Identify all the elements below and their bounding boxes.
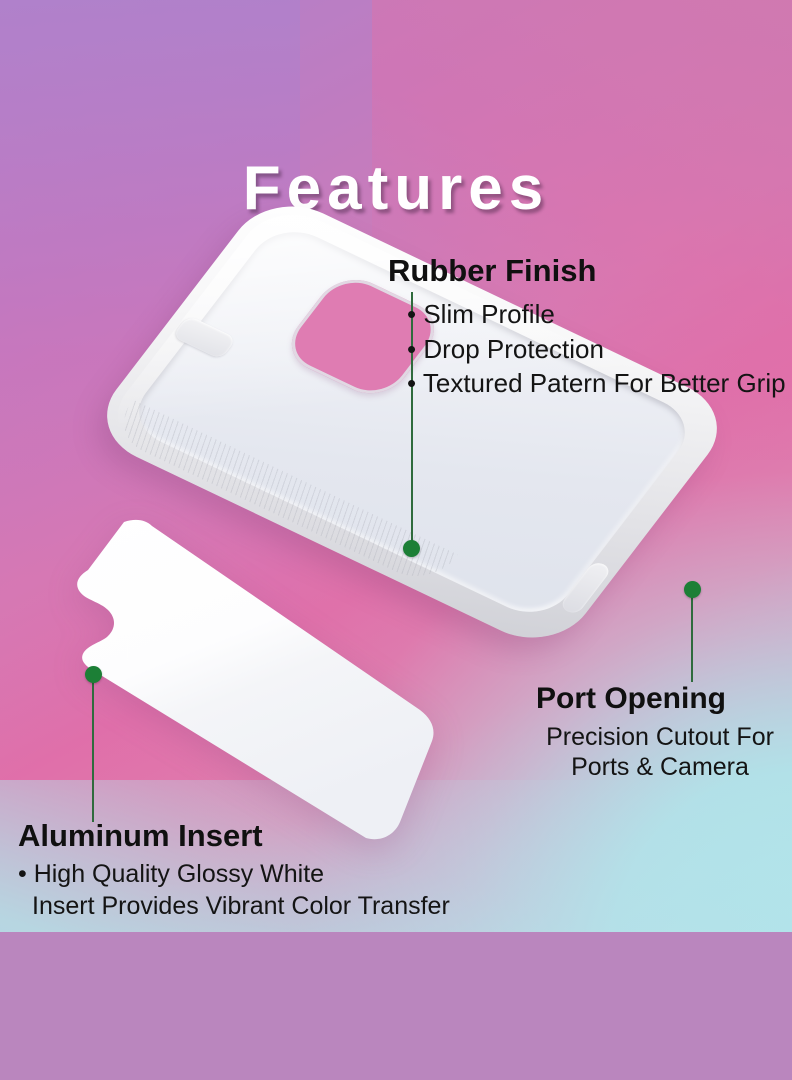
bullet-textured-pattern: • Textured Patern For Better Grip xyxy=(407,368,786,399)
callout-heading-port-opening: Port Opening xyxy=(536,683,726,715)
infographic-page: Features xyxy=(0,0,792,1080)
bullet-drop-protection: • Drop Protection xyxy=(407,334,786,365)
leader-line-port-opening xyxy=(691,590,693,682)
bullet-color-transfer: Insert Provides Vibrant Color Transfer xyxy=(18,892,450,922)
leader-dot-rubber-finish xyxy=(403,540,420,557)
bullet-glossy-white: • High Quality Glossy White xyxy=(18,860,450,890)
callout-heading-rubber-finish: Rubber Finish xyxy=(388,255,596,288)
callout-bullets-aluminum-insert: • High Quality Glossy White Insert Provi… xyxy=(18,860,450,923)
bullet-slim-profile: • Slim Profile xyxy=(407,299,786,330)
leader-line-aluminum-insert xyxy=(92,676,94,822)
callout-bullets-rubber-finish: • Slim Profile • Drop Protection • Textu… xyxy=(407,299,786,403)
callout-heading-aluminum-insert: Aluminum Insert xyxy=(18,820,263,853)
leader-dot-aluminum-insert xyxy=(85,666,102,683)
callout-body-port-opening: Precision Cutout For Ports & Camera xyxy=(536,723,784,782)
page-title: Features xyxy=(0,158,792,220)
bottom-purple-band xyxy=(0,932,792,1080)
leader-dot-port-opening xyxy=(684,581,701,598)
